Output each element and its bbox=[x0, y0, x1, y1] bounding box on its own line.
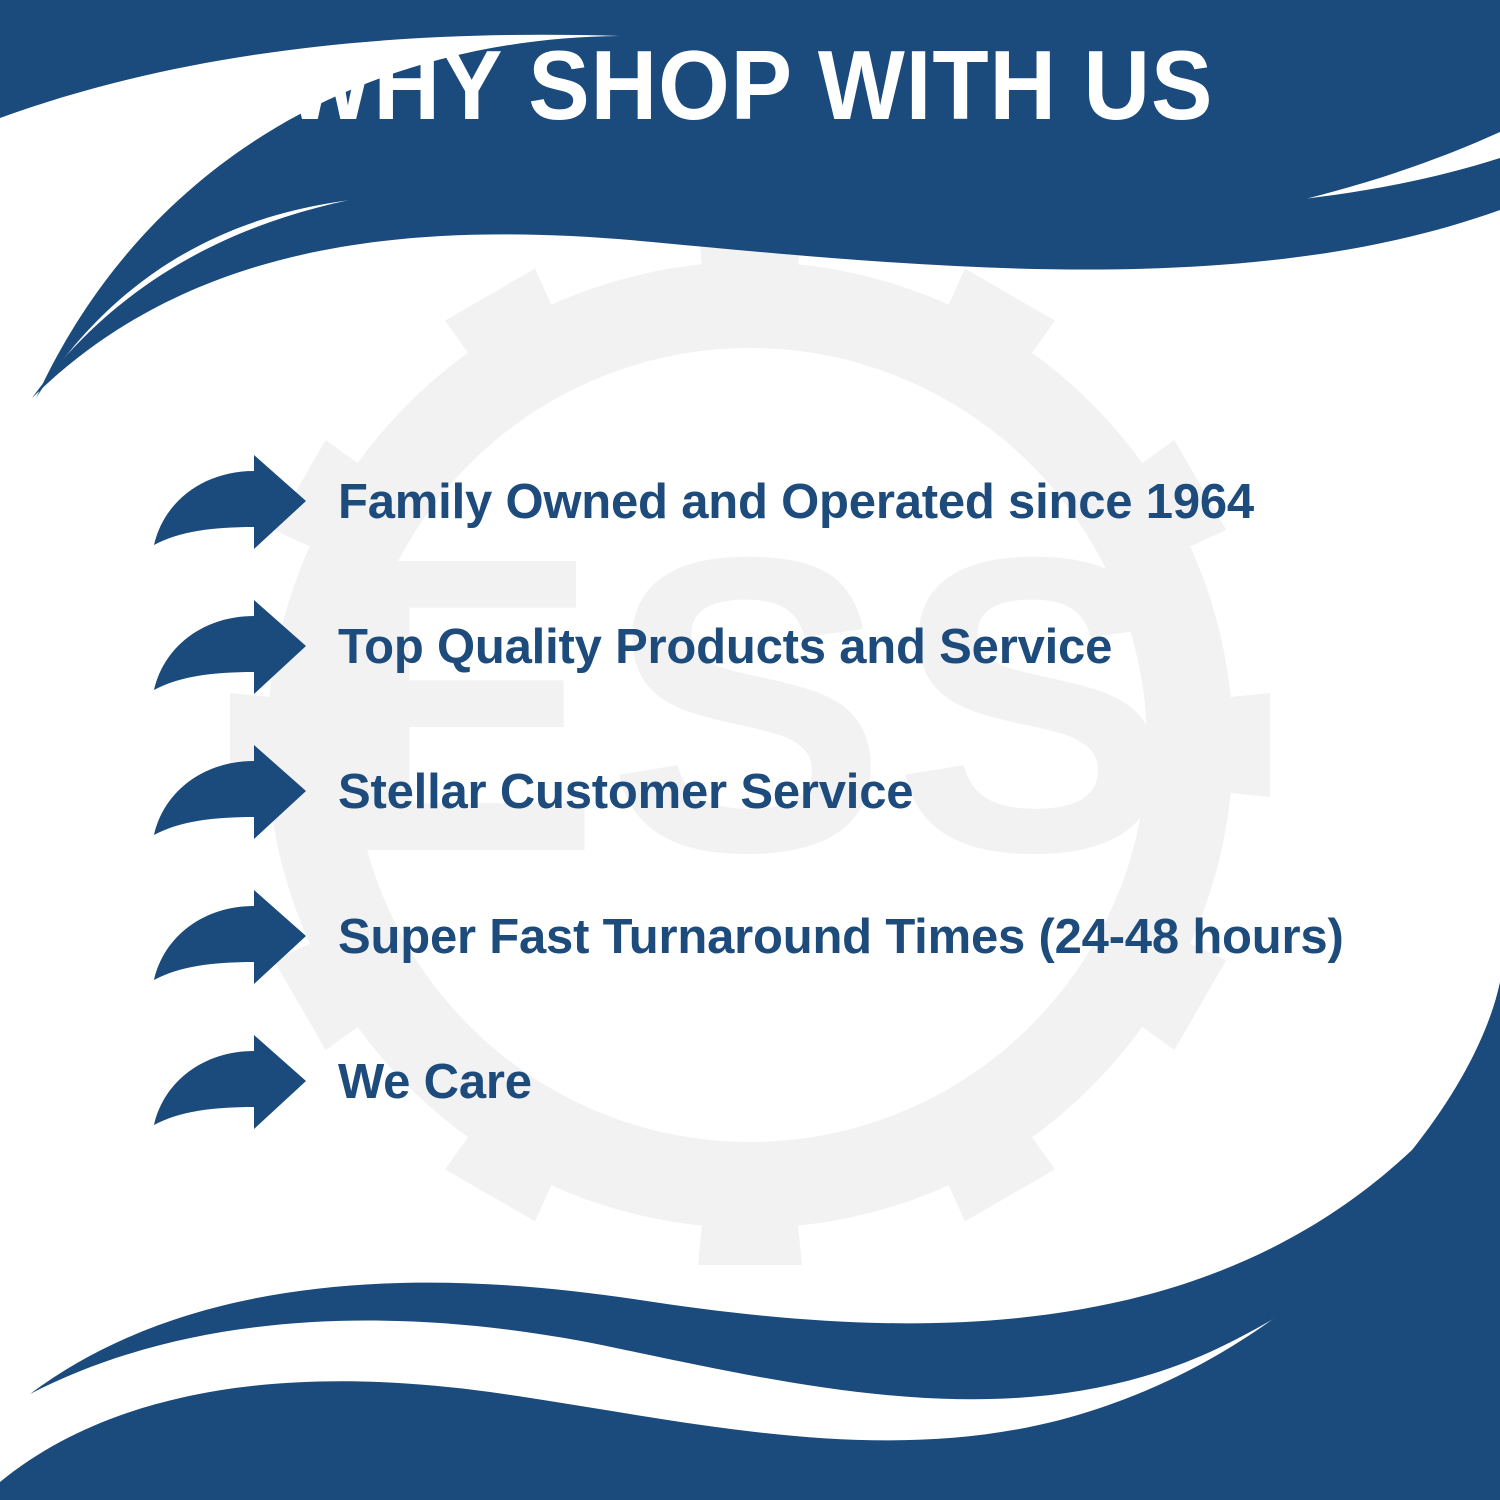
why-shop-with-us-poster: ESS WHY SHOP WITH US Family Owned and Op… bbox=[0, 0, 1500, 1500]
header-band: WHY SHOP WITH US bbox=[0, 0, 1500, 170]
header-accent-swoosh bbox=[32, 158, 1500, 398]
benefit-label: Family Owned and Operated since 1964 bbox=[338, 476, 1254, 529]
benefit-label: Super Fast Turnaround Times (24-48 hours… bbox=[338, 911, 1344, 964]
curved-arrow-right-icon bbox=[150, 888, 310, 988]
list-item: Top Quality Products and Service bbox=[150, 575, 1440, 720]
curved-arrow-right-icon bbox=[150, 453, 310, 553]
list-item: We Care bbox=[150, 1010, 1440, 1155]
benefit-label: Top Quality Products and Service bbox=[338, 621, 1112, 674]
list-item: Super Fast Turnaround Times (24-48 hours… bbox=[150, 865, 1440, 1010]
benefit-list: Family Owned and Operated since 1964 Top… bbox=[150, 430, 1440, 1155]
list-item: Stellar Customer Service bbox=[150, 720, 1440, 865]
curved-arrow-right-icon bbox=[150, 1033, 310, 1133]
benefit-label: We Care bbox=[338, 1056, 532, 1109]
page-title: WHY SHOP WITH US bbox=[286, 36, 1214, 134]
list-item: Family Owned and Operated since 1964 bbox=[150, 430, 1440, 575]
curved-arrow-right-icon bbox=[150, 598, 310, 698]
benefit-label: Stellar Customer Service bbox=[338, 766, 913, 819]
curved-arrow-right-icon bbox=[150, 743, 310, 843]
